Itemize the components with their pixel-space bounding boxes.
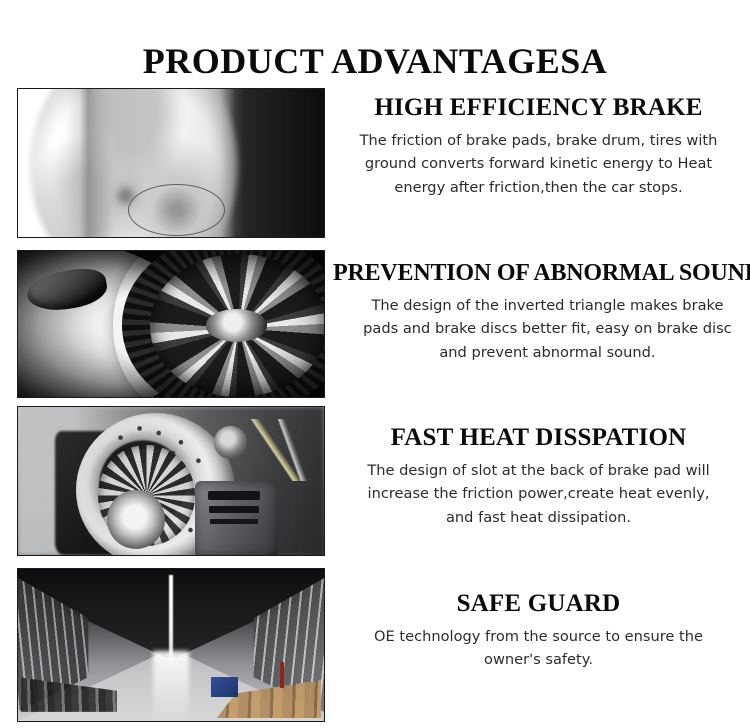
mount-bolt-shape <box>214 426 248 459</box>
feature-image-frame <box>17 568 325 722</box>
feature-heading: FAST HEAT DISSPATION <box>333 424 744 453</box>
feature-row: FAST HEAT DISSPATION The design of slot … <box>0 406 750 556</box>
suspension-linkage-shape <box>238 419 318 481</box>
feature-row: HIGH EFFICIENCY BRAKE The friction of br… <box>0 88 750 238</box>
feature-body: The design of the inverted triangle make… <box>361 294 733 365</box>
feature-body: The friction of brake pads, brake drum, … <box>353 129 725 200</box>
feature-body: OE technology from the source to ensure … <box>353 625 725 672</box>
page-title: PRODUCT ADVANTAGESA <box>0 42 750 82</box>
caliper-slot-shape <box>208 491 260 500</box>
feature-body: The design of slot at the back of brake … <box>353 459 725 530</box>
spinning-wheel-motion-blur-photo <box>18 89 324 237</box>
feature-heading: PREVENTION OF ABNORMAL SOUND <box>333 260 750 288</box>
factory-assembly-hall-photo <box>18 569 324 721</box>
drilled-brake-disc-caliper-photo <box>18 407 324 555</box>
car-alloy-wheel-photo <box>18 251 324 397</box>
blue-container-shape <box>211 677 239 697</box>
feature-text-block: PREVENTION OF ABNORMAL SOUND The design … <box>325 250 750 365</box>
feature-image-frame <box>17 88 325 238</box>
feature-image-frame <box>17 406 325 556</box>
feature-text-block: FAST HEAT DISSPATION The design of slot … <box>325 406 750 530</box>
feature-row: PREVENTION OF ABNORMAL SOUND The design … <box>0 250 750 398</box>
vignette-overlay <box>18 251 324 397</box>
feature-heading: SAFE GUARD <box>333 590 744 619</box>
floor-light-reflection <box>153 651 190 721</box>
feature-text-block: HIGH EFFICIENCY BRAKE The friction of br… <box>325 88 750 200</box>
feature-text-block: SAFE GUARD OE technology from the source… <box>325 568 750 672</box>
red-post-shape <box>280 662 284 688</box>
wheel-flange-shape <box>107 490 165 549</box>
feature-heading: HIGH EFFICIENCY BRAKE <box>333 94 744 123</box>
feature-image-frame <box>17 250 325 398</box>
feature-row: SAFE GUARD OE technology from the source… <box>0 568 750 722</box>
